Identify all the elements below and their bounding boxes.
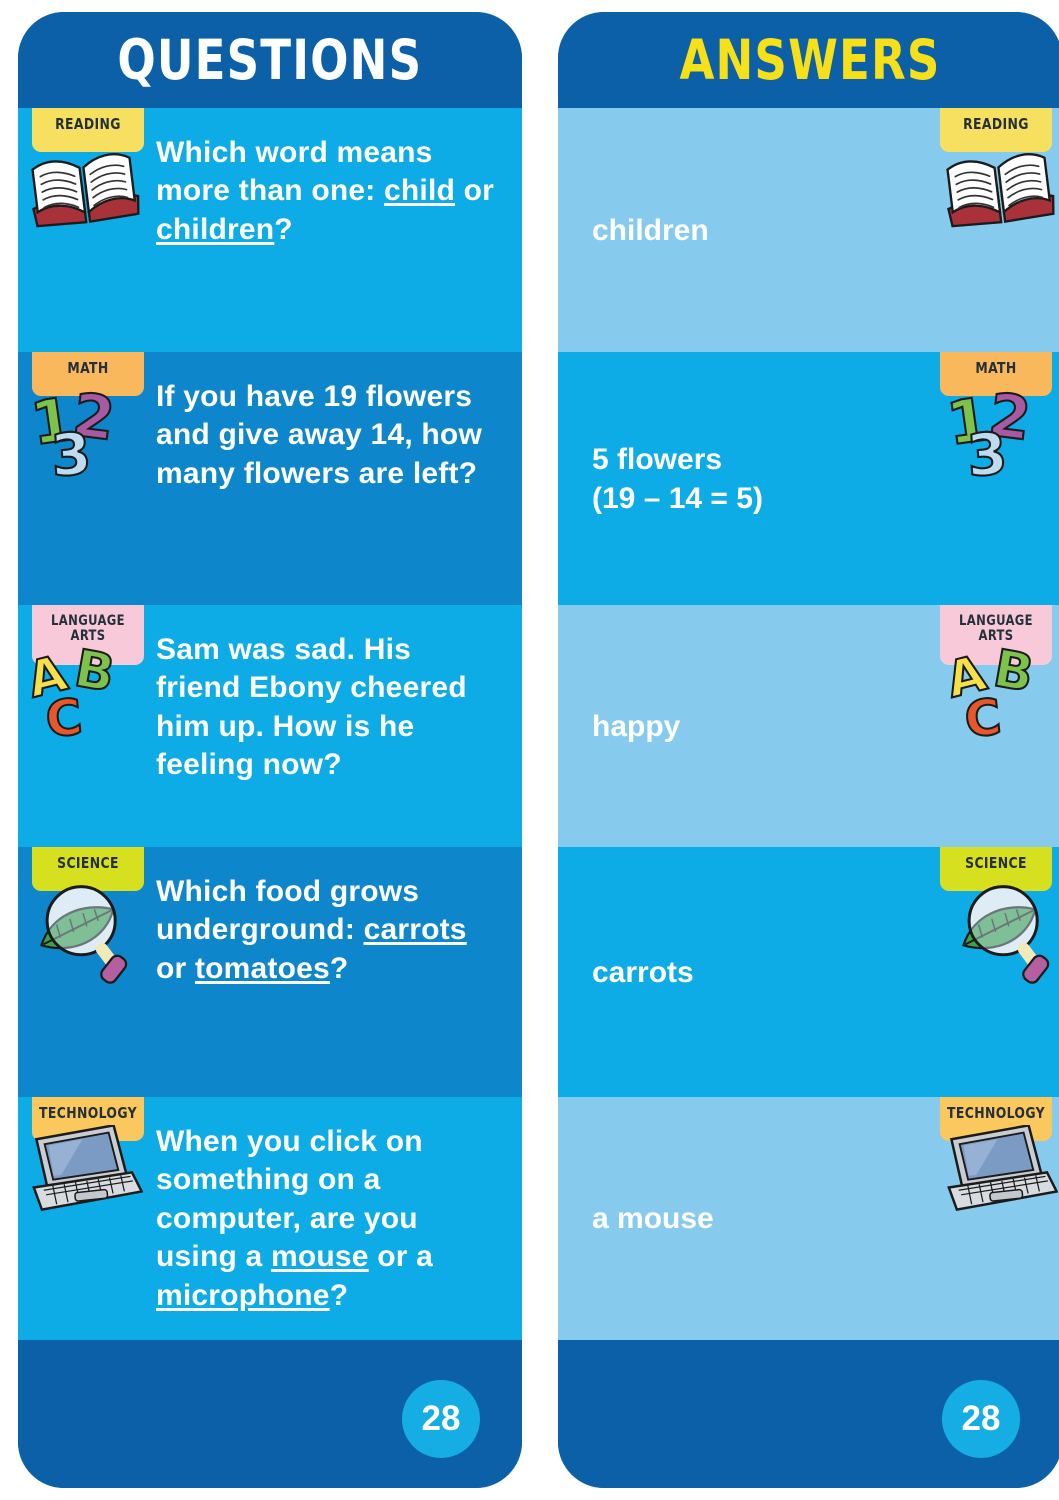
subject-tab-label: LANGUAGE <box>36 614 139 629</box>
answer-row[interactable]: 5 flowers(19 – 14 = 5)MATH123 <box>558 352 1059 605</box>
subject-icon-wrapper: ABC <box>18 641 148 741</box>
numbers-123-icon: 123 <box>26 382 142 478</box>
subject-tab-label: LANGUAGE <box>944 614 1047 629</box>
magnifying-glass-leaf-icon <box>32 877 136 989</box>
answers-card: ANSWERS childrenREADING5 flowers(19 – 14… <box>558 12 1059 1488</box>
question-text: If you have 19 flowers and give away 14,… <box>148 352 522 493</box>
subject-tab-wrapper: READING <box>926 108 1059 352</box>
question-row[interactable]: LANGUAGEARTSABCSam was sad. His friend E… <box>18 605 522 847</box>
subject-tab-label: MATH <box>944 361 1047 377</box>
subject-icon-wrapper <box>20 877 148 989</box>
answer-row[interactable]: a mouseTECHNOLOGY <box>558 1097 1059 1340</box>
subject-tab-label: MATH <box>36 361 139 377</box>
subject-tab-wrapper: MATH123 <box>926 352 1059 605</box>
subject-icon-wrapper <box>954 877 1058 989</box>
question-text: Which food grows underground: carrots or… <box>148 847 522 988</box>
question-text: When you click on something on a compute… <box>148 1097 522 1315</box>
subject-tab-wrapper: READING <box>18 108 148 352</box>
questions-card: QUESTIONS READINGWhich word means more t… <box>18 12 522 1488</box>
subject-tab-label: READING <box>944 117 1047 133</box>
subject-tab-wrapper: TECHNOLOGY <box>926 1097 1059 1340</box>
svg-text:3: 3 <box>965 420 1010 478</box>
svg-text:3: 3 <box>49 420 94 478</box>
question-row[interactable]: TECHNOLOGYWhen you click on something on… <box>18 1097 522 1340</box>
question-text: Sam was sad. His friend Ebony cheered hi… <box>148 605 522 785</box>
subject-icon-wrapper <box>18 1125 148 1217</box>
subject-tab-wrapper: SCIENCE <box>18 847 148 1097</box>
subject-icon-wrapper: 123 <box>942 382 1058 478</box>
answers-footer: 28 <box>558 1349 1059 1488</box>
flashcard-page: QUESTIONS READINGWhich word means more t… <box>0 0 1059 1500</box>
numbers-123-icon: 123 <box>942 382 1058 478</box>
question-row[interactable]: SCIENCEWhich food grows underground: car… <box>18 847 522 1097</box>
question-text: Which word means more than one: child or… <box>148 108 522 249</box>
answers-title: ANSWERS <box>679 32 940 87</box>
answer-text: a mouse <box>558 1199 926 1238</box>
abc-letters-icon: ABC <box>944 641 1058 741</box>
abc-letters-icon: ABC <box>25 641 139 741</box>
question-row[interactable]: READINGWhich word means more than one: c… <box>18 108 522 352</box>
answer-row[interactable]: childrenREADING <box>558 108 1059 352</box>
questions-row-list: READINGWhich word means more than one: c… <box>18 108 522 1340</box>
laptop-icon <box>934 1125 1058 1217</box>
magnifying-glass-leaf-icon <box>954 877 1058 989</box>
page-number-badge: 28 <box>402 1380 480 1458</box>
subject-tab-wrapper: LANGUAGEARTSABC <box>18 605 148 847</box>
subject-tab-wrapper: MATH123 <box>18 352 148 605</box>
questions-header: QUESTIONS <box>18 12 522 108</box>
questions-title: QUESTIONS <box>118 32 423 87</box>
answer-text: carrots <box>558 953 926 992</box>
svg-text:C: C <box>962 687 1004 741</box>
subject-icon-wrapper <box>934 1125 1058 1217</box>
questions-footer: 28 <box>18 1349 522 1488</box>
subject-tab-wrapper: TECHNOLOGY <box>18 1097 148 1340</box>
subject-icon-wrapper: 123 <box>20 382 148 478</box>
svg-text:C: C <box>43 687 85 741</box>
subject-tab-label: READING <box>36 117 139 133</box>
subject-icon-wrapper <box>940 144 1058 228</box>
answer-row[interactable]: happyLANGUAGEARTSABC <box>558 605 1059 847</box>
subject-tab-label: TECHNOLOGY <box>944 1106 1047 1122</box>
page-number-badge: 28 <box>942 1380 1020 1458</box>
open-book-icon <box>940 144 1058 228</box>
answer-text: children <box>558 211 926 250</box>
answer-text: happy <box>558 707 926 746</box>
subject-icon-wrapper: ABC <box>944 641 1058 741</box>
subject-tab-wrapper: LANGUAGEARTSABC <box>926 605 1059 847</box>
subject-icon-wrapper <box>20 144 148 228</box>
answers-row-list: childrenREADING5 flowers(19 – 14 = 5)MAT… <box>558 108 1059 1340</box>
laptop-icon <box>19 1125 143 1217</box>
answer-row[interactable]: carrotsSCIENCE <box>558 847 1059 1097</box>
subject-tab-label: TECHNOLOGY <box>36 1106 139 1122</box>
subject-tab-label: SCIENCE <box>944 856 1047 872</box>
open-book-icon <box>25 144 143 228</box>
subject-tab-label: SCIENCE <box>36 856 139 872</box>
subject-tab-wrapper: SCIENCE <box>926 847 1059 1097</box>
answer-text: 5 flowers(19 – 14 = 5) <box>558 440 926 518</box>
answers-header: ANSWERS <box>558 12 1059 108</box>
question-row[interactable]: MATH123If you have 19 flowers and give a… <box>18 352 522 605</box>
